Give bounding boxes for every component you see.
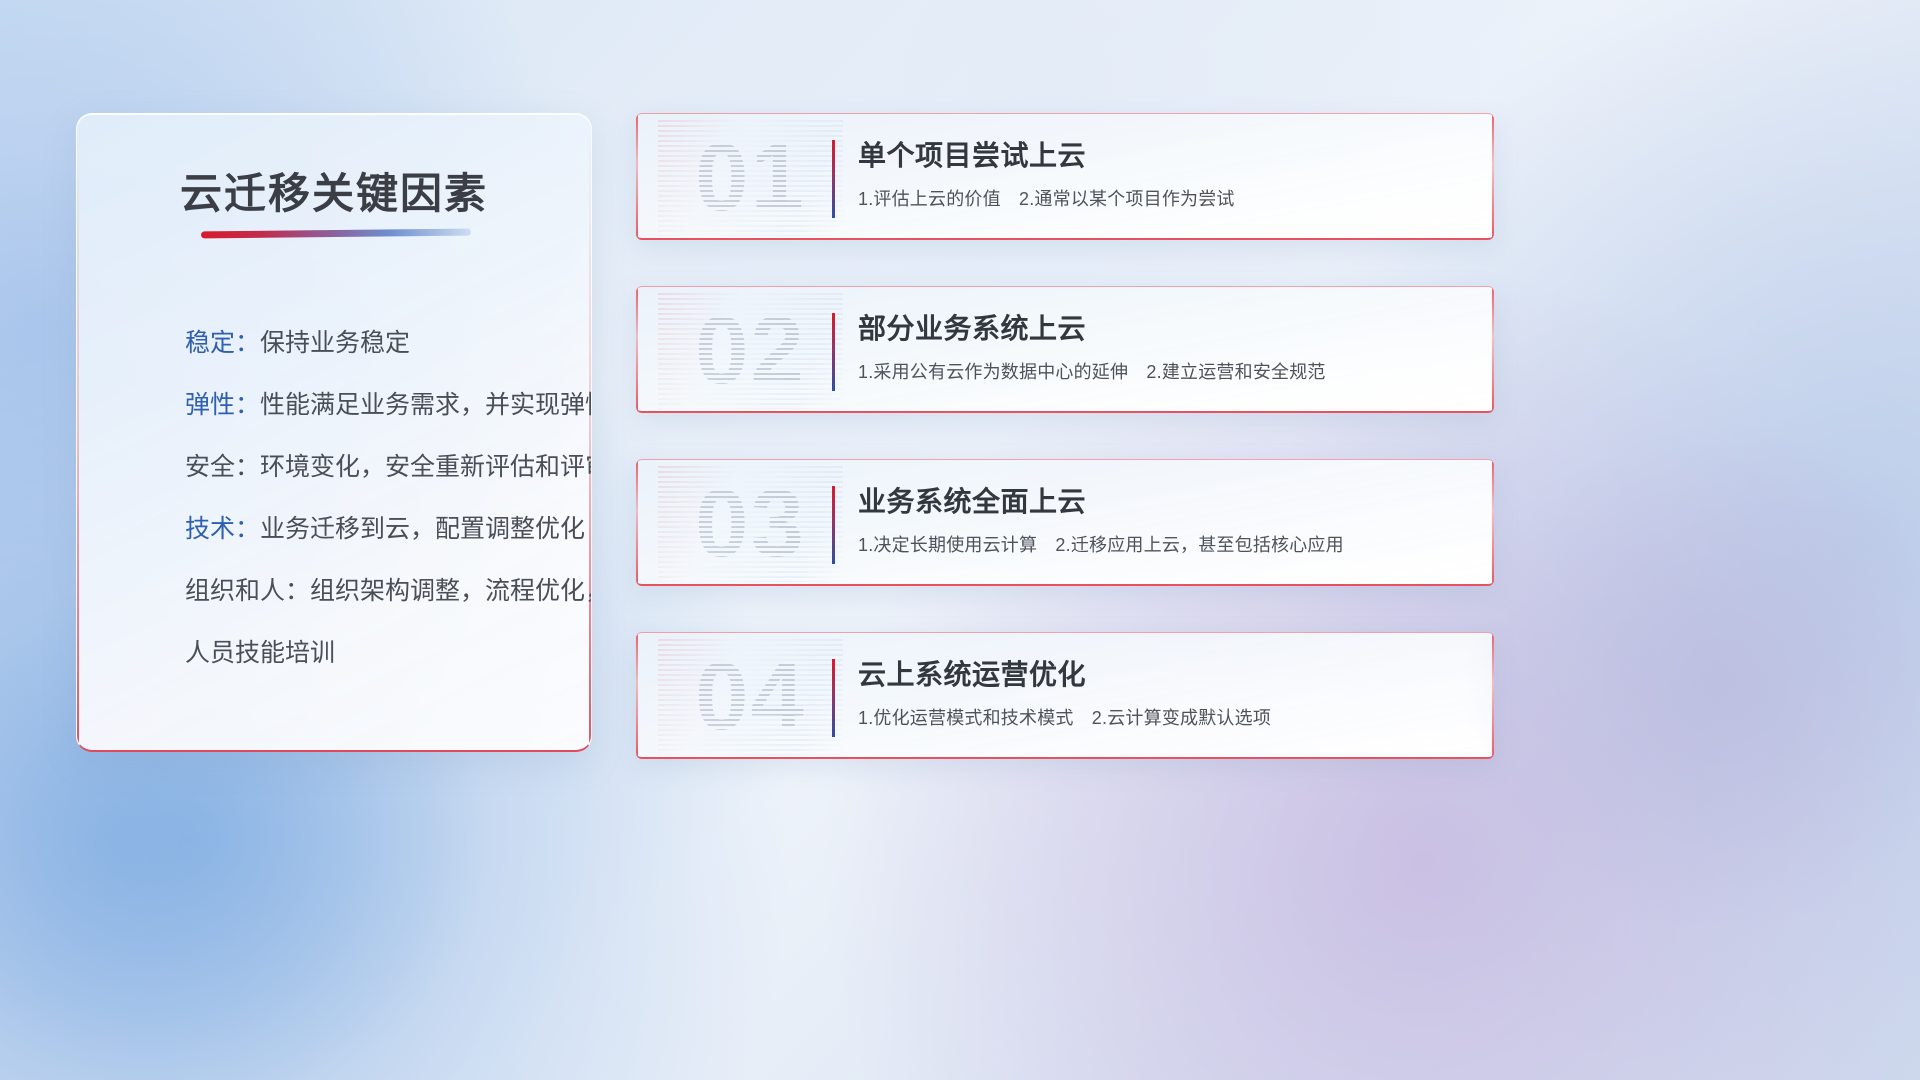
factor-item: 技术：业务迁移到云，配置调整优化: [185, 498, 557, 560]
stage-card[interactable]: 04 云上系统运营优化 1.优化运营模式和技术模式 2.云计算变成默认选项: [636, 632, 1494, 759]
factor-text: 人员技能培训: [185, 639, 335, 667]
stage-number-03: 03: [658, 466, 843, 582]
card-accent-bar: [832, 659, 835, 737]
factor-item: 稳定：保持业务稳定: [185, 312, 557, 374]
factor-text: 业务迁移到云，配置调整优化: [260, 515, 585, 543]
card-body: 业务系统全面上云 1.决定长期使用云计算 2.迁移应用上云，甚至包括核心应用: [858, 482, 1472, 558]
factor-text: 保持业务稳定: [260, 329, 410, 357]
key-factors-panel: 云迁移关键因素 稳定：保持业务稳定 弹性：性能满足业务需求，并实现弹性 安全：环…: [76, 113, 592, 752]
card-title: 单个项目尝试上云: [858, 136, 1472, 176]
page-title: 云迁移关键因素: [77, 160, 591, 221]
card-right-accent-line: [1492, 460, 1494, 584]
ghost-number-tint: [658, 639, 843, 755]
title-underline-gradient: [201, 229, 471, 239]
panel-left-accent-line: [77, 130, 79, 750]
card-right-accent-line: [1492, 633, 1494, 757]
factor-item: 组织和人：组织架构调整，流程优化，: [185, 560, 557, 622]
card-description: 1.决定长期使用云计算 2.迁移应用上云，甚至包括核心应用: [858, 532, 1472, 558]
stage-card[interactable]: 01 单个项目尝试上云 1.评估上云的价值 2.通常以某个项目作为尝试: [636, 113, 1494, 240]
ghost-number-tint: [658, 120, 843, 236]
factor-text: 环境变化，安全重新评估和评审: [260, 453, 592, 481]
stage-number-02: 02: [658, 293, 843, 409]
stage-number-04: 04: [658, 639, 843, 755]
card-accent-bar: [832, 313, 835, 391]
factor-label: 稳定：: [185, 329, 260, 357]
card-left-accent-line: [636, 287, 638, 411]
stage-card[interactable]: 03 业务系统全面上云 1.决定长期使用云计算 2.迁移应用上云，甚至包括核心应…: [636, 459, 1494, 586]
card-body: 部分业务系统上云 1.采用公有云作为数据中心的延伸 2.建立运营和安全规范: [858, 309, 1472, 385]
card-title: 云上系统运营优化: [858, 655, 1472, 695]
card-left-accent-line: [636, 460, 638, 584]
card-right-accent-line: [1492, 114, 1494, 238]
card-description: 1.评估上云的价值 2.通常以某个项目作为尝试: [858, 186, 1472, 212]
card-body: 单个项目尝试上云 1.评估上云的价值 2.通常以某个项目作为尝试: [858, 136, 1472, 212]
card-left-accent-line: [636, 633, 638, 757]
factor-label: 技术：: [185, 515, 260, 543]
factor-item-continuation: 人员技能培训: [185, 622, 557, 684]
card-accent-bar: [832, 486, 835, 564]
migration-stage-cards: 01 单个项目尝试上云 1.评估上云的价值 2.通常以某个项目作为尝试 02 部…: [636, 113, 1494, 805]
card-accent-bar: [832, 140, 835, 218]
stage-number-01: 01: [658, 120, 843, 236]
factor-label: 弹性：: [185, 391, 260, 419]
card-title: 业务系统全面上云: [858, 482, 1472, 522]
factor-text: 性能满足业务需求，并实现弹性: [260, 391, 592, 419]
factor-item: 安全：环境变化，安全重新评估和评审: [185, 436, 557, 498]
card-right-accent-line: [1492, 287, 1494, 411]
factor-label: 组织和人：: [185, 577, 310, 605]
ghost-number-tint: [658, 466, 843, 582]
factor-item: 弹性：性能满足业务需求，并实现弹性: [185, 374, 557, 436]
card-body: 云上系统运营优化 1.优化运营模式和技术模式 2.云计算变成默认选项: [858, 655, 1472, 731]
slide-canvas: 云迁移关键因素 稳定：保持业务稳定 弹性：性能满足业务需求，并实现弹性 安全：环…: [0, 0, 1920, 1080]
factor-label: 安全：: [185, 453, 260, 481]
card-description: 1.优化运营模式和技术模式 2.云计算变成默认选项: [858, 705, 1472, 731]
card-left-accent-line: [636, 114, 638, 238]
ghost-number-tint: [658, 293, 843, 409]
factor-text: 组织架构调整，流程优化，: [310, 577, 592, 605]
card-description: 1.采用公有云作为数据中心的延伸 2.建立运营和安全规范: [858, 359, 1472, 385]
factor-list: 稳定：保持业务稳定 弹性：性能满足业务需求，并实现弹性 安全：环境变化，安全重新…: [185, 312, 557, 684]
card-title: 部分业务系统上云: [858, 309, 1472, 349]
stage-card[interactable]: 02 部分业务系统上云 1.采用公有云作为数据中心的延伸 2.建立运营和安全规范: [636, 286, 1494, 413]
panel-right-accent-line: [589, 130, 591, 750]
